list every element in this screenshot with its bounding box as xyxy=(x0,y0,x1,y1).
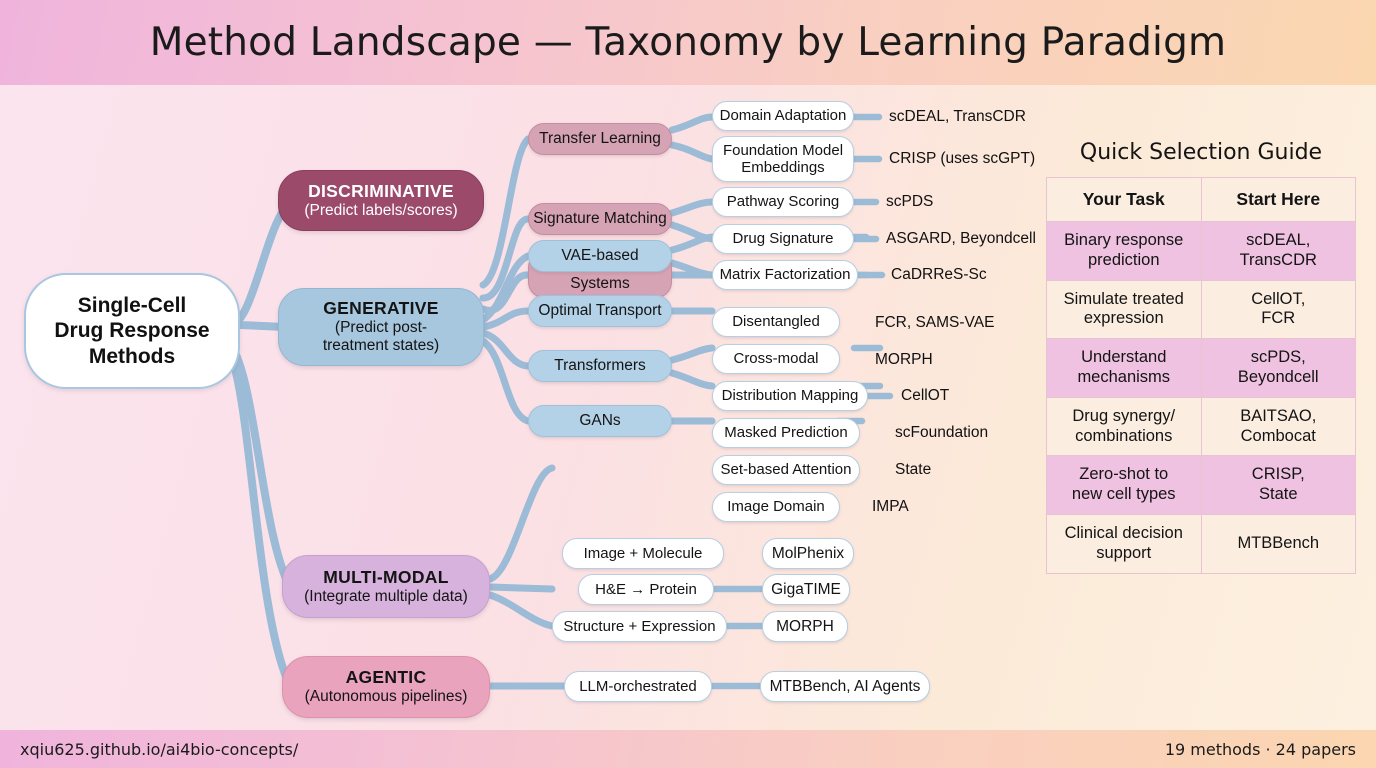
guide-task-cell: Drug synergy/ combinations xyxy=(1047,397,1202,456)
guide-task-line-1: Drug synergy/ xyxy=(1072,407,1175,425)
methods-cross-modal: MORPH xyxy=(875,350,1055,370)
branch-agentic-subtitle: (Autonomous pipelines) xyxy=(305,688,468,706)
guide-task-cell: Clinical decision support xyxy=(1047,514,1202,573)
leaf-image-molecule[interactable]: Image + Molecule xyxy=(562,538,724,569)
methods-foundation-text: CRISP (uses scGPT) xyxy=(889,150,1035,168)
mid-vae-based[interactable]: VAE-based xyxy=(528,240,672,272)
mid-optimal-transport-label: Optimal Transport xyxy=(538,302,661,320)
methods-matrix-factorization-text: CaDRReS-Sc xyxy=(891,266,987,284)
table-row[interactable]: Binary response prediction scDEAL, Trans… xyxy=(1047,222,1356,281)
methods-drug-signature-text: ASGARD, Beyondcell xyxy=(886,230,1036,248)
branch-generative-subtitle-1: (Predict post- xyxy=(335,319,427,337)
mid-recommender-label-2: Systems xyxy=(570,275,629,293)
leaf-set-based-attention-label: Set-based Attention xyxy=(721,461,852,478)
branch-discriminative-title: DISCRIMINATIVE xyxy=(308,182,454,202)
branch-generative-subtitle-2: treatment states) xyxy=(323,337,439,355)
leaf-foundation-label-2: Embeddings xyxy=(741,159,824,176)
leaf-he-protein[interactable]: H&E → Protein xyxy=(578,574,714,605)
methods-disentangled: FCR, SAMS-VAE xyxy=(875,313,1075,333)
mid-transformers[interactable]: Transformers xyxy=(528,350,672,382)
leaf-image-domain-label: Image Domain xyxy=(727,498,825,515)
leaf-cross-modal[interactable]: Cross-modal xyxy=(712,344,840,374)
guide-start-cell: CellOT, FCR xyxy=(1201,280,1356,339)
guide-col-start-here: Start Here xyxy=(1201,178,1356,222)
leaf-domain-adaptation-label: Domain Adaptation xyxy=(720,107,847,124)
branch-generative[interactable]: GENERATIVE (Predict post- treatment stat… xyxy=(278,288,484,366)
leaf-matrix-factorization-label: Matrix Factorization xyxy=(720,266,851,283)
guide-start-line-1: BAITSAO, xyxy=(1240,407,1316,425)
method-pill-mtbbench-text: MTBBench, AI Agents xyxy=(770,678,921,696)
page-header: Method Landscape — Taxonomy by Learning … xyxy=(0,0,1376,85)
page-footer: xqiu625.github.io/ai4bio-concepts/ 19 me… xyxy=(0,730,1376,768)
guide-task-line-2: combinations xyxy=(1075,427,1172,445)
guide-task-line-1: Clinical decision xyxy=(1065,524,1183,542)
guide-start-cell: MTBBench xyxy=(1201,514,1356,573)
guide-table: Your Task Start Here Binary response pre… xyxy=(1046,177,1356,574)
guide-task-line-2: mechanisms xyxy=(1077,368,1170,386)
table-row[interactable]: Simulate treated expression CellOT, FCR xyxy=(1047,280,1356,339)
root-line-2: Drug Response xyxy=(54,318,209,344)
leaf-llm-orchestrated-label: LLM-orchestrated xyxy=(579,678,697,695)
guide-title: Quick Selection Guide xyxy=(1046,140,1356,165)
mindmap-canvas: Single-Cell Drug Response Methods DISCRI… xyxy=(0,85,1376,730)
methods-pathway-scoring-text: scPDS xyxy=(886,193,933,211)
methods-image-domain: IMPA xyxy=(872,497,1052,517)
method-pill-morph-text: MORPH xyxy=(776,618,834,636)
guide-start-line-2: Beyondcell xyxy=(1238,368,1319,386)
guide-col-your-task: Your Task xyxy=(1047,178,1202,222)
table-row[interactable]: Drug synergy/ combinations BAITSAO, Comb… xyxy=(1047,397,1356,456)
root-node[interactable]: Single-Cell Drug Response Methods xyxy=(24,273,240,389)
branch-agentic[interactable]: AGENTIC (Autonomous pipelines) xyxy=(282,656,490,718)
guide-start-line-2: FCR xyxy=(1261,309,1295,327)
footer-url[interactable]: xqiu625.github.io/ai4bio-concepts/ xyxy=(20,740,298,759)
guide-task-line-1: Zero-shot to xyxy=(1079,465,1168,483)
guide-start-cell: scDEAL, TransCDR xyxy=(1201,222,1356,281)
branch-discriminative-subtitle: (Predict labels/scores) xyxy=(304,202,457,220)
leaf-pathway-scoring[interactable]: Pathway Scoring xyxy=(712,187,854,217)
leaf-pathway-scoring-label: Pathway Scoring xyxy=(727,193,840,210)
methods-set-based-attention-text: State xyxy=(895,461,931,479)
method-pill-molphenix-text: MolPhenix xyxy=(772,545,844,563)
guide-start-line-2: State xyxy=(1259,485,1298,503)
branch-multimodal[interactable]: MULTI-MODAL (Integrate multiple data) xyxy=(282,555,490,618)
leaf-he-protein-label: H&E → Protein xyxy=(595,581,697,598)
leaf-disentangled[interactable]: Disentangled xyxy=(712,307,840,337)
leaf-foundation-label-1: Foundation Model xyxy=(723,142,843,159)
leaf-drug-signature-label: Drug Signature xyxy=(733,230,834,247)
method-pill-molphenix[interactable]: MolPhenix xyxy=(762,538,854,569)
methods-disentangled-text: FCR, SAMS-VAE xyxy=(875,314,994,332)
mid-signature-matching[interactable]: Signature Matching xyxy=(528,203,672,235)
page-title: Method Landscape — Taxonomy by Learning … xyxy=(150,20,1227,65)
method-pill-morph[interactable]: MORPH xyxy=(762,611,848,642)
guide-start-cell: scPDS, Beyondcell xyxy=(1201,339,1356,398)
mid-optimal-transport[interactable]: Optimal Transport xyxy=(528,295,672,327)
leaf-masked-prediction[interactable]: Masked Prediction xyxy=(712,418,860,448)
methods-pathway-scoring: scPDS xyxy=(886,192,1066,212)
methods-masked-prediction-text: scFoundation xyxy=(895,424,988,442)
method-pill-gigatime[interactable]: GigaTIME xyxy=(762,574,850,605)
guide-start-line-1: MTBBench xyxy=(1237,534,1319,552)
guide-start-line-1: scPDS, xyxy=(1251,348,1306,366)
mid-gans-label: GANs xyxy=(579,412,620,430)
guide-task-line-2: new cell types xyxy=(1072,485,1176,503)
guide-table-header-row: Your Task Start Here xyxy=(1047,178,1356,222)
guide-start-line-2: TransCDR xyxy=(1240,251,1317,269)
leaf-foundation-model-embeddings[interactable]: Foundation Model Embeddings xyxy=(712,136,854,182)
leaf-structure-expression[interactable]: Structure + Expression xyxy=(552,611,727,642)
methods-image-domain-text: IMPA xyxy=(872,498,909,516)
mid-transfer-learning-label: Transfer Learning xyxy=(539,130,661,148)
quick-selection-guide: Quick Selection Guide Your Task Start He… xyxy=(1046,140,1356,574)
methods-cross-modal-text: MORPH xyxy=(875,351,933,369)
branch-multimodal-title: MULTI-MODAL xyxy=(323,568,448,588)
guide-task-line-2: support xyxy=(1096,544,1151,562)
guide-start-line-1: scDEAL, xyxy=(1246,231,1310,249)
leaf-image-molecule-label: Image + Molecule xyxy=(584,545,703,562)
leaf-distribution-mapping-label: Distribution Mapping xyxy=(722,387,859,404)
mid-signature-matching-label: Signature Matching xyxy=(533,210,667,228)
leaf-disentangled-label: Disentangled xyxy=(732,313,820,330)
mid-transfer-learning[interactable]: Transfer Learning xyxy=(528,123,672,155)
guide-task-line-1: Binary response xyxy=(1064,231,1183,249)
guide-start-line-1: CRISP, xyxy=(1252,465,1305,483)
leaf-drug-signature[interactable]: Drug Signature xyxy=(712,224,854,254)
mid-gans[interactable]: GANs xyxy=(528,405,672,437)
leaf-cross-modal-label: Cross-modal xyxy=(733,350,818,367)
guide-task-line-1: Simulate treated xyxy=(1064,290,1184,308)
guide-task-cell: Binary response prediction xyxy=(1047,222,1202,281)
guide-task-line-2: prediction xyxy=(1088,251,1160,269)
table-row[interactable]: Understand mechanisms scPDS, Beyondcell xyxy=(1047,339,1356,398)
methods-distribution-mapping-text: CellOT xyxy=(901,387,949,405)
mid-transformers-label: Transformers xyxy=(554,357,646,375)
branch-generative-title: GENERATIVE xyxy=(323,299,438,319)
method-pill-mtbbench-ai-agents[interactable]: MTBBench, AI Agents xyxy=(760,671,930,702)
guide-task-cell: Simulate treated expression xyxy=(1047,280,1202,339)
methods-domain-adaptation-text: scDEAL, TransCDR xyxy=(889,108,1026,126)
leaf-structure-expression-label: Structure + Expression xyxy=(563,618,715,635)
branch-discriminative[interactable]: DISCRIMINATIVE (Predict labels/scores) xyxy=(278,170,484,231)
leaf-set-based-attention[interactable]: Set-based Attention xyxy=(712,455,860,485)
leaf-image-domain[interactable]: Image Domain xyxy=(712,492,840,522)
branch-agentic-title: AGENTIC xyxy=(346,668,427,688)
leaf-matrix-factorization[interactable]: Matrix Factorization xyxy=(712,260,858,290)
leaf-distribution-mapping[interactable]: Distribution Mapping xyxy=(712,381,868,411)
branch-multimodal-subtitle: (Integrate multiple data) xyxy=(304,588,468,606)
table-row[interactable]: Clinical decision support MTBBench xyxy=(1047,514,1356,573)
footer-stats: 19 methods · 24 papers xyxy=(1165,740,1356,759)
leaf-llm-orchestrated[interactable]: LLM-orchestrated xyxy=(564,671,712,702)
mid-vae-based-label: VAE-based xyxy=(561,247,638,265)
root-line-1: Single-Cell xyxy=(78,293,187,319)
method-pill-gigatime-text: GigaTIME xyxy=(771,581,841,599)
root-line-3: Methods xyxy=(89,344,175,370)
guide-task-cell: Understand mechanisms xyxy=(1047,339,1202,398)
guide-start-cell: CRISP, State xyxy=(1201,456,1356,515)
guide-start-cell: BAITSAO, Combocat xyxy=(1201,397,1356,456)
leaf-domain-adaptation[interactable]: Domain Adaptation xyxy=(712,101,854,131)
methods-domain-adaptation: scDEAL, TransCDR xyxy=(889,107,1089,127)
guide-task-line-2: expression xyxy=(1084,309,1164,327)
guide-start-line-2: Combocat xyxy=(1241,427,1316,445)
guide-start-line-1: CellOT, xyxy=(1251,290,1305,308)
leaf-masked-prediction-label: Masked Prediction xyxy=(724,424,847,441)
table-row[interactable]: Zero-shot to new cell types CRISP, State xyxy=(1047,456,1356,515)
guide-task-line-1: Understand xyxy=(1081,348,1166,366)
guide-task-cell: Zero-shot to new cell types xyxy=(1047,456,1202,515)
